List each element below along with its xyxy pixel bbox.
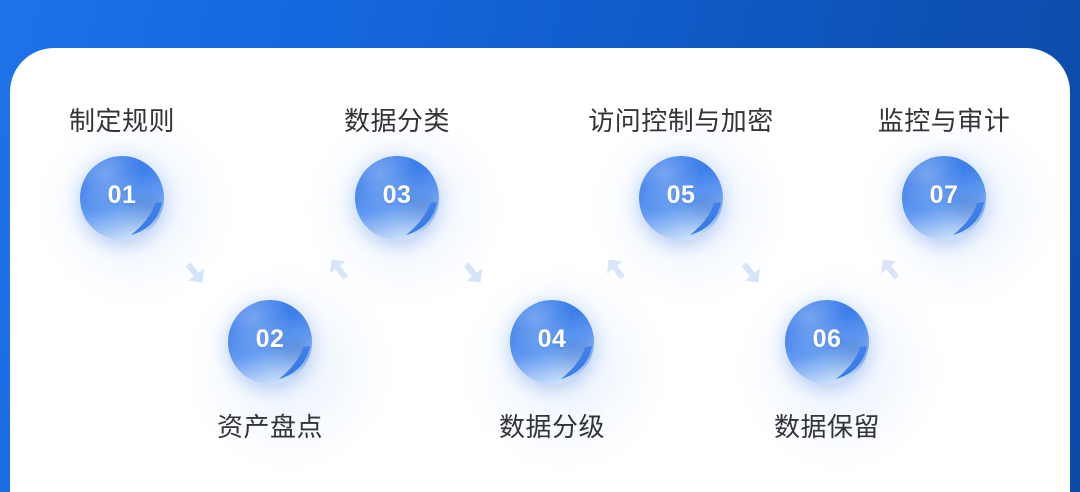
step-label-05: 访问控制与加密 — [581, 106, 781, 136]
step-label-01: 制定规则 — [22, 106, 222, 136]
connector-arrow-up-right-2 — [603, 254, 633, 284]
step-badge-04[interactable]: 04 — [510, 300, 594, 384]
step-number-04: 04 — [510, 327, 594, 352]
connector-arrow-down-right-3 — [738, 258, 768, 288]
step-badge-05[interactable]: 05 — [639, 156, 723, 240]
step-node-03[interactable]: 数据分类 03 — [297, 106, 497, 240]
step-badge-07[interactable]: 07 — [902, 156, 986, 240]
step-node-02[interactable]: 02 资产盘点 — [170, 300, 370, 442]
step-label-03: 数据分类 — [297, 106, 497, 136]
connector-arrow-up-right-1 — [326, 254, 356, 284]
step-number-03: 03 — [355, 183, 439, 208]
connector-arrow-down-right-1 — [182, 258, 212, 288]
infographic-canvas: 制定规则 01 — [0, 0, 1080, 492]
step-number-05: 05 — [639, 183, 723, 208]
step-label-07: 监控与审计 — [844, 106, 1044, 136]
connector-arrow-up-right-3 — [877, 254, 907, 284]
connector-arrow-down-right-2 — [460, 258, 490, 288]
white-content-card: 制定规则 01 — [10, 48, 1070, 492]
step-badge-06[interactable]: 06 — [785, 300, 869, 384]
step-badge-02[interactable]: 02 — [228, 300, 312, 384]
step-number-02: 02 — [228, 327, 312, 352]
step-label-06: 数据保留 — [727, 412, 927, 442]
step-number-01: 01 — [80, 183, 164, 208]
step-node-01[interactable]: 制定规则 01 — [22, 106, 222, 240]
step-badge-01[interactable]: 01 — [80, 156, 164, 240]
step-badge-03[interactable]: 03 — [355, 156, 439, 240]
step-node-04[interactable]: 04 数据分级 — [452, 300, 652, 442]
step-node-05[interactable]: 访问控制与加密 05 — [581, 106, 781, 240]
step-label-04: 数据分级 — [452, 412, 652, 442]
step-number-06: 06 — [785, 327, 869, 352]
step-node-07[interactable]: 监控与审计 07 — [844, 106, 1044, 240]
step-number-07: 07 — [902, 183, 986, 208]
step-label-02: 资产盘点 — [170, 412, 370, 442]
step-node-06[interactable]: 06 数据保留 — [727, 300, 927, 442]
